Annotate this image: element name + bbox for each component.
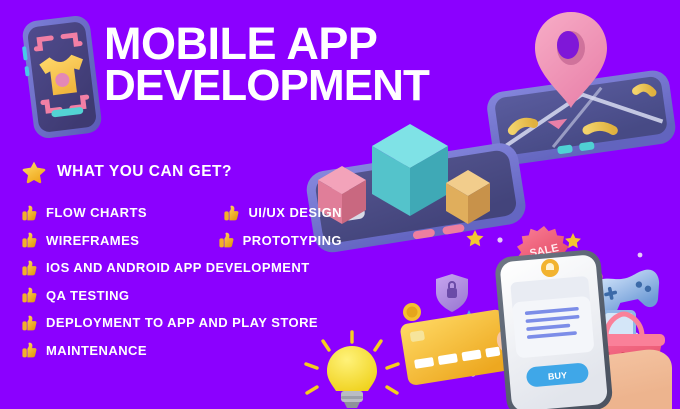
subheading-label: WHAT YOU CAN GET? [57,163,232,181]
feature-label: QA TESTING [46,288,129,303]
thumbs-up-hand-icon [219,232,234,248]
feature-item: MAINTENANCE [22,342,147,358]
thumbs-up-hand-icon [22,315,37,331]
star-icon [22,160,46,184]
feature-item: IOS AND ANDROID APP DEVELOPMENT [22,260,310,276]
feature-row: WIREFRAMES PROTOTYPING [22,227,342,255]
buy-button [526,362,590,387]
feature-item: QA TESTING [22,287,129,303]
feature-item: DEPLOYMENT TO APP AND PLAY STORE [22,315,318,331]
feature-item: UI/UX DESIGN [224,205,342,221]
feature-row: IOS AND ANDROID APP DEVELOPMENT [22,254,342,282]
thumbs-up-hand-icon [22,232,37,248]
feature-row: MAINTENANCE [22,337,342,365]
title-line-2: DEVELOPMENT [104,65,464,107]
subheading: WHAT YOU CAN GET? [22,160,232,184]
thumbs-up-hand-icon [22,205,37,221]
mobile-app-development-banner: MOBILE APP DEVELOPMENT WHAT YOU CAN GET? [0,0,680,409]
title-line-1: MOBILE APP [104,22,464,65]
feature-row: FLOW CHARTS UI/UX DESIGN [22,199,342,227]
thumbs-up-hand-icon [22,287,37,303]
thumbs-up-hand-icon [22,342,37,358]
page-title: MOBILE APP DEVELOPMENT [104,22,464,107]
feature-row: DEPLOYMENT TO APP AND PLAY STORE [22,309,342,337]
map-location-pin-illustration [477,8,677,173]
feature-label: MAINTENANCE [46,343,147,358]
feature-list: FLOW CHARTS UI/UX DESIGN W [22,199,342,364]
feature-label: DEPLOYMENT TO APP AND PLAY STORE [46,315,318,330]
phone-tshirt-scan-illustration [14,12,110,142]
buy-button-label: BUY [548,370,568,382]
feature-label: PROTOTYPING [243,233,342,248]
sale-badge-label: SALE [529,242,560,260]
thumbs-up-hand-icon [224,205,239,221]
feature-label: UI/UX DESIGN [248,205,342,220]
feature-label: FLOW CHARTS [46,205,147,220]
feature-label: WIREFRAMES [46,233,139,248]
feature-item: WIREFRAMES [22,232,174,248]
feature-item: PROTOTYPING [219,232,342,248]
feature-item: FLOW CHARTS [22,205,174,221]
feature-row: QA TESTING [22,282,342,310]
thumbs-up-hand-icon [22,260,37,276]
feature-label: IOS AND ANDROID APP DEVELOPMENT [46,260,310,275]
hand-holding-phone-ecommerce-illustration: SALE [398,222,680,409]
